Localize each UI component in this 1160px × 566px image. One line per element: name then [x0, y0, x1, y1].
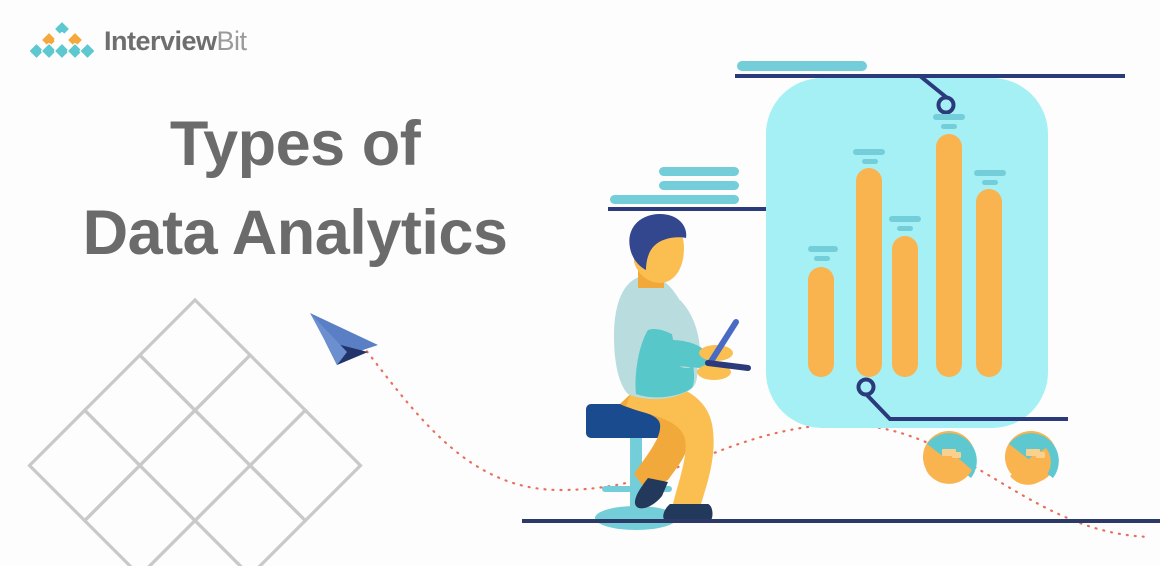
page-title-line-2: Data Analytics [30, 189, 560, 278]
bar-1 [808, 267, 834, 377]
bar-5 [976, 189, 1002, 377]
logo-word-bit: Bit [217, 26, 247, 56]
page-title: Types of Data Analytics [30, 100, 560, 279]
logo-word-interview: Interview [104, 26, 217, 56]
hero-illustration [0, 0, 1160, 566]
ground-line [522, 519, 1160, 523]
page-title-line-1: Types of [30, 100, 560, 189]
bar-5-tick-long [974, 170, 1006, 176]
bar-3-tick-long [889, 216, 921, 222]
bar-1-tick-long [808, 246, 838, 252]
bar-2-tick-long [853, 149, 885, 155]
bar-4-tick-short [941, 124, 957, 129]
interviewbit-diamond-pyramid-logo-icon [30, 22, 94, 62]
globe-icon-1 [923, 431, 977, 484]
bar-4-tick-long [933, 114, 965, 120]
laptop [708, 322, 748, 368]
diamond-grid-pattern [30, 300, 361, 566]
bar-2 [856, 168, 882, 377]
interviewbit-wordmark: InterviewBit [104, 28, 247, 57]
bar-2-tick-short [862, 159, 878, 164]
bar-3-tick-short [897, 226, 913, 231]
banner-canvas: InterviewBit Types of Data Analytics [0, 0, 1160, 566]
bar-3 [892, 236, 918, 377]
globe-icon-2 [1005, 431, 1059, 485]
interviewbit-logo[interactable]: InterviewBit [30, 22, 247, 62]
bar-1-tick-short [814, 256, 830, 261]
bar-4 [936, 134, 962, 377]
paper-plane-icon [310, 313, 378, 365]
bar-5-tick-short [982, 180, 998, 185]
